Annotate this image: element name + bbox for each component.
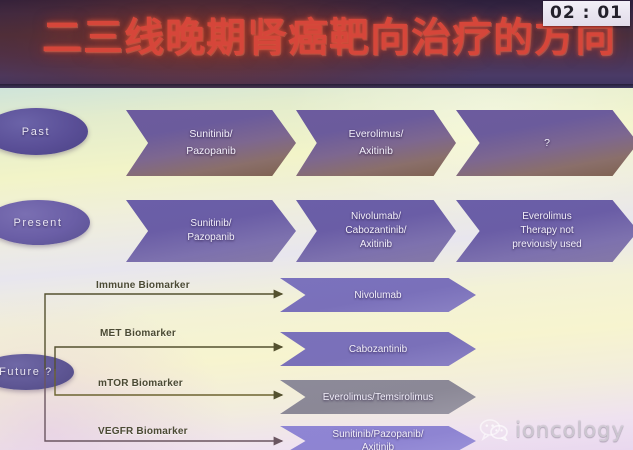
countdown-timer: 02 : 01 (543, 1, 630, 26)
branch-label-immune: Immune Biomarker (96, 280, 190, 291)
slide-body: Past Present Future ? Sunitinib/ Pazopan… (0, 88, 633, 450)
future-target-4-line1: Sunitinib/Pazopanib/ (332, 428, 423, 441)
watermark: ioncology (479, 418, 625, 442)
future-target-2-text: Cabozantinib (349, 343, 407, 356)
watermark-text: ioncology (515, 418, 625, 442)
branch-label-met: MET Biomarker (100, 328, 176, 339)
future-target-1-text: Nivolumab (354, 289, 401, 302)
wechat-icon (479, 419, 509, 441)
slide-title-band: 二三线晚期肾癌靶向治疗的方向 02 : 01 (0, 0, 633, 88)
future-target-cabozantinib: Cabozantinib (280, 332, 476, 366)
future-target-4-line2: Axitinib (362, 441, 394, 450)
page-title: 二三线晚期肾癌靶向治疗的方向 (42, 16, 616, 60)
branch-label-mtor: mTOR Biomarker (98, 378, 183, 389)
future-target-nivolumab: Nivolumab (280, 278, 476, 312)
future-target-sunitinib-pazopanib-axitinib: Sunitinib/Pazopanib/ Axitinib (280, 426, 476, 450)
branch-label-vegfr: VEGFR Biomarker (98, 426, 188, 437)
future-target-3-text: Everolimus/Temsirolimus (323, 391, 434, 404)
screenshot-stage: 二三线晚期肾癌靶向治疗的方向 02 : 01 Past Present Futu… (0, 0, 633, 450)
future-target-everolimus-temsirolimus: Everolimus/Temsirolimus (280, 380, 476, 414)
